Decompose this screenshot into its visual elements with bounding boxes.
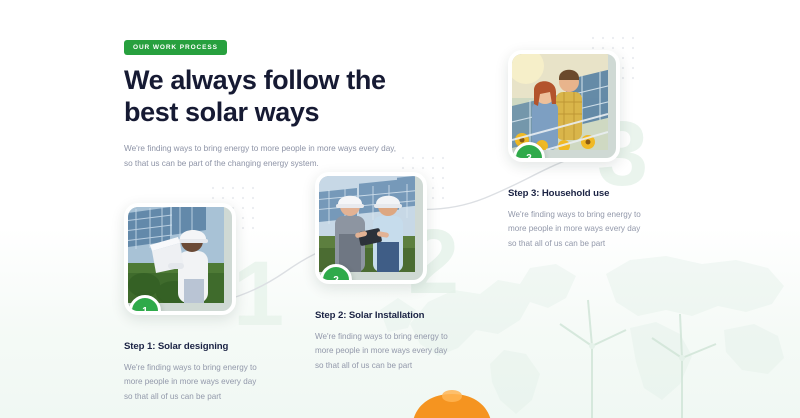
step-1-body-line-2: more people in more ways every day [124,375,289,389]
section-header: OUR WORK PROCESS We always follow the be… [124,36,424,171]
step-1-title: Step 1: Solar designing [124,341,289,352]
headline-line-2: best solar ways [124,97,424,129]
page-title: We always follow the best solar ways [124,65,424,128]
step-3-body-line-3: so that all of us can be part [508,237,673,251]
step-1-photo: 1 [124,203,236,315]
process-step-3[interactable]: 3 Step 3: Household use We're finding wa… [508,50,673,251]
step-2-body-line-2: more people in more ways every day [315,344,480,358]
step-3-photo: 3 [508,50,620,162]
step-2-body: We're finding ways to bring energy to mo… [315,330,480,373]
work-process-section: 1 2 3 [0,0,800,418]
subcopy-line-1: We're finding ways to bring energy to mo… [124,142,424,156]
step-1-body-line-1: We're finding ways to bring energy to [124,361,289,375]
section-subcopy: We're finding ways to bring energy to mo… [124,142,424,171]
step-2-photo: 2 [315,172,427,284]
process-step-2[interactable]: 2 Step 2: Solar Installation We're findi… [315,172,480,373]
section-badge: OUR WORK PROCESS [124,40,227,55]
step-1-body: We're finding ways to bring energy to mo… [124,361,289,404]
step-3-body-line-2: more people in more ways every day [508,222,673,236]
headline-line-1: We always follow the [124,65,386,95]
step-2-body-line-1: We're finding ways to bring energy to [315,330,480,344]
step-3-body-line-1: We're finding ways to bring energy to [508,208,673,222]
step-2-title: Step 2: Solar Installation [315,310,480,321]
step-2-body-line-3: so that all of us can be part [315,359,480,373]
orange-hard-hat-icon [398,386,506,418]
step-3-title: Step 3: Household use [508,188,673,199]
process-step-1[interactable]: 1 Step 1: Solar designing We're finding … [124,203,289,404]
step-3-body: We're finding ways to bring energy to mo… [508,208,673,251]
subcopy-line-2: so that us can be part of the changing e… [124,157,424,171]
wind-turbines-decoration [530,288,760,418]
step-1-body-line-3: so that all of us can be part [124,390,289,404]
